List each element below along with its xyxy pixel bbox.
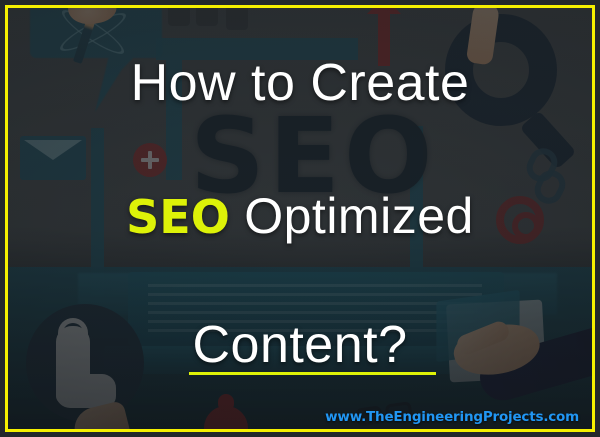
headline-line-2: SEO Optimized (8, 191, 592, 241)
poster-canvas: SEO (0, 0, 600, 437)
headline-layer: How to Create SEO Optimized Content? www… (8, 8, 592, 429)
headline-line-1: How to Create (8, 57, 592, 109)
yellow-border-frame: SEO (5, 5, 595, 432)
website-url[interactable]: www.TheEngineeringProjects.com (325, 409, 579, 425)
poster-inner: SEO (8, 8, 592, 429)
yellow-underline-rule (189, 372, 436, 375)
headline-line-2-rest: Optimized (230, 188, 474, 244)
headline-keyword-seo: SEO (126, 190, 230, 244)
headline-line-3: Content? (8, 319, 592, 371)
